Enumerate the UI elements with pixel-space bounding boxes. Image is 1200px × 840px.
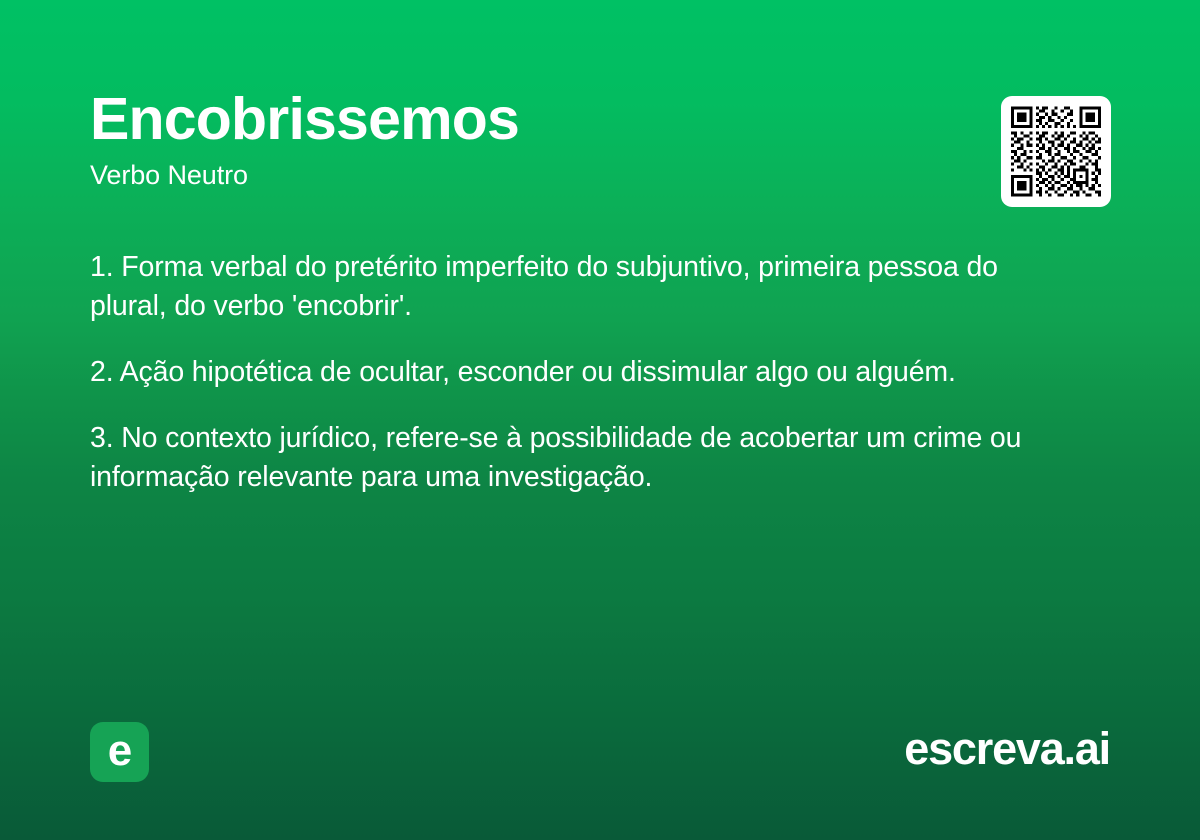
definition-item: 1. Forma verbal do pretérito imperfeito … xyxy=(90,248,1080,326)
brand-wordmark[interactable]: escreva.ai xyxy=(904,723,1110,775)
word-class-subtitle: Verbo Neutro xyxy=(90,160,1110,191)
qr-code-card[interactable] xyxy=(1001,96,1111,207)
dictionary-card: Encobrissemos Verbo Neutro xyxy=(0,0,1200,840)
qr-code-icon xyxy=(1011,106,1101,197)
definition-item: 3. No contexto jurídico, refere-se à pos… xyxy=(90,419,1080,497)
definition-item: 2. Ação hipotética de ocultar, esconder … xyxy=(90,353,1080,392)
card-header: Encobrissemos Verbo Neutro xyxy=(90,88,1110,191)
definitions-list: 1. Forma verbal do pretérito imperfeito … xyxy=(90,248,1080,497)
brand-logo[interactable]: e xyxy=(90,722,149,782)
brand-logo-letter: e xyxy=(108,729,131,773)
word-title: Encobrissemos xyxy=(90,88,1110,151)
